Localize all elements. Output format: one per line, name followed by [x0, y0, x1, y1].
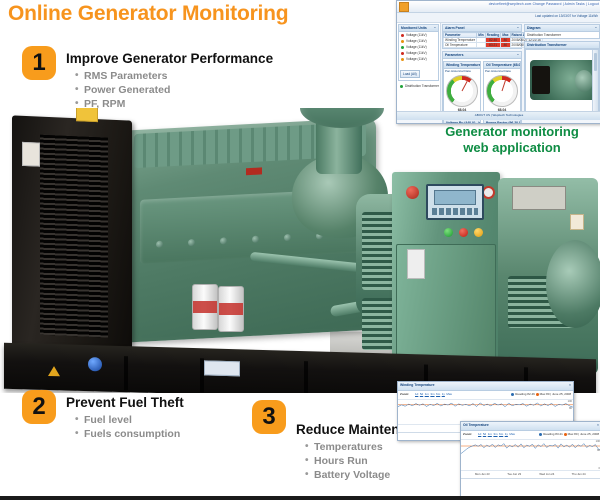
bullet-icon: • — [75, 69, 79, 83]
list-item: •Hours Run — [314, 454, 472, 468]
panel-title: Parameters — [445, 53, 463, 57]
ytick-mid: 80 — [569, 407, 572, 410]
zoom-option[interactable]: 3m — [493, 432, 497, 436]
close-icon[interactable]: × — [597, 423, 599, 427]
col-min: Min — [477, 33, 486, 38]
zoom-option[interactable]: 5d — [483, 432, 486, 436]
collapsed-header: Voltage Ry (440 V) - kV ▾ — [444, 120, 480, 124]
cell-min — [477, 43, 486, 48]
chart-title: Oil Temperature — [463, 423, 489, 427]
image-panel: Distribution Transformer — [524, 41, 600, 114]
controller-display — [426, 184, 484, 220]
chart-legend-2: Reading 83.21 Max 80 | June 25, 2008 — [539, 432, 599, 436]
app-logo-icon — [399, 2, 409, 12]
bullet-label: Hours Run — [314, 455, 368, 467]
bullet-label: Temperatures — [314, 441, 383, 453]
panel-title: Distribution Transformer — [527, 43, 567, 47]
generator-thumbnail-image — [530, 60, 596, 100]
emergency-stop-icon — [406, 186, 419, 199]
webapp-left-column: Monitored Units − Voltage (11kV) Voltage… — [397, 23, 441, 111]
alarm-panel-header: Alarm Panel − — [443, 25, 521, 32]
indicator-lamps — [444, 228, 486, 237]
ytick-top: 100 — [596, 440, 600, 443]
zoom-option[interactable]: 6m — [436, 392, 440, 396]
list-item: •Power Generated — [84, 83, 273, 97]
bullet-icon: • — [75, 427, 79, 441]
gauge-title: Winding Temperature (66.64 °C) — [446, 63, 480, 67]
radiator-label — [22, 142, 40, 167]
bullet-icon: • — [305, 440, 309, 454]
legend-value-max: 80 — [546, 392, 549, 396]
panel-title: Power Factor (96.20 %) — [486, 121, 520, 124]
diagram-panel-header: Diagram − — [525, 25, 599, 32]
status-dot-icon — [401, 46, 404, 49]
collapse-icon[interactable]: − — [517, 53, 519, 57]
gauge-header: Winding Temperature (66.64 °C) ▾ — [444, 62, 480, 69]
list-item[interactable]: Voltage (11kV) — [399, 56, 438, 62]
gauge-body: 68.04 — [444, 73, 480, 113]
panel-title: Alarm Panel — [445, 26, 465, 30]
chart-svg-2 — [461, 440, 600, 470]
collapse-icon[interactable]: − — [517, 26, 519, 30]
list-item[interactable]: Distribution Transformer — [525, 32, 599, 38]
engine-red-label — [246, 167, 262, 175]
chart-titlebar-1: Winding Temperature × — [398, 382, 573, 391]
status-dot-icon — [401, 40, 404, 43]
panel-title: Voltage Ry (440 V) - kV — [446, 121, 480, 124]
generator-end-bell — [546, 240, 600, 328]
zoom-option[interactable]: 1y — [442, 392, 445, 396]
feature-bullets-1: •RMS Parameters •Power Generated •PF, RP… — [66, 69, 273, 111]
legend-value-reading: 83.21 — [555, 432, 563, 436]
warning-label — [570, 214, 584, 230]
gauge-body: 68.04 — [484, 73, 520, 113]
panel-title: Monitored Units — [401, 26, 427, 30]
poster-root: Online Generator Monitoring — [0, 0, 600, 500]
monitored-units-header: Monitored Units − — [399, 25, 438, 32]
legend-label-max: Max — [568, 432, 574, 436]
radiator-housing — [12, 115, 132, 360]
fuel-filter-1 — [192, 284, 218, 330]
gauge-title: Oil Temperature (68.04 °C) — [486, 63, 520, 67]
status-dot-icon — [400, 85, 403, 88]
zoom-option[interactable]: 5d — [420, 392, 423, 396]
gauge-row: Winding Temperature (66.64 °C) ▾ Pan His… — [443, 61, 521, 118]
diagram-panel: Diagram − Distribution Transformer — [524, 24, 600, 39]
legend-color-max — [536, 393, 539, 396]
generator-nameplate — [512, 186, 566, 210]
zoom-option[interactable]: 1m — [488, 432, 492, 436]
xtick-label: Wed Jun 24 — [539, 472, 554, 476]
legend-value-reading: 82.46 — [527, 392, 535, 396]
cell-max: 80 — [501, 43, 510, 48]
legend-color-reading — [539, 433, 542, 436]
load-all-button[interactable]: Load (All) — [400, 70, 420, 78]
zoom-options-1[interactable]: 1d5d1m3m6m1yMax — [415, 392, 452, 396]
chart-titlebar-2: Oil Temperature × — [461, 422, 600, 431]
close-icon[interactable]: × — [569, 383, 571, 387]
gauge-oil-temperature[interactable]: Oil Temperature (68.04 °C) ▾ Pan Histori… — [483, 61, 521, 118]
list-item: •PF, RPM — [84, 97, 273, 111]
webapp-last-updated-bar: Last updated on 13/03/07 for Voltage 11k… — [397, 13, 600, 23]
zoom-option[interactable]: 6m — [499, 432, 503, 436]
cooling-fins-upper — [362, 212, 396, 290]
list-item: •Fuel level — [84, 413, 184, 427]
radiator-grille — [40, 135, 108, 338]
webapp-footer: ABOUT US | Wepitech Technologies — [397, 111, 600, 120]
bullet-label: Battery Voltage — [314, 469, 390, 481]
cooling-fins-lower — [362, 298, 396, 350]
list-item: •RMS Parameters — [84, 69, 273, 83]
skid-hazard-icon — [48, 366, 60, 376]
xtick-label: Mon Jun 23 — [475, 472, 490, 476]
legend-value-max: 80 — [574, 432, 577, 436]
zoom-label: Zoom: — [400, 392, 409, 396]
chart-xaxis-2: Mon Jun 23 Tue Jun 23 Wed Jun 24 Thu Jun… — [461, 470, 600, 478]
cell-parameter: Winding Temperature — [444, 38, 477, 43]
legend-color-reading — [511, 393, 514, 396]
page-title: Online Generator Monitoring — [8, 2, 288, 26]
bullet-label: PF, RPM — [84, 98, 125, 110]
list-item: •Battery Voltage — [314, 468, 472, 482]
cell-parameter: Oil Temperature — [444, 43, 477, 48]
chart-plot-2: 100 80 0 — [461, 440, 600, 470]
monitored-units-panel: Monitored Units − Voltage (11kV) Voltage… — [398, 24, 439, 81]
status-dot-icon — [401, 34, 404, 37]
zoom-option[interactable]: 1y — [505, 432, 508, 436]
collapsed-header: Power Factor (96.20 %) ▾ — [484, 120, 520, 124]
legend-label-reading: Reading — [543, 432, 554, 436]
bullet-icon: • — [75, 97, 79, 111]
zoom-option[interactable]: 1d — [478, 432, 481, 436]
skid-info-decal — [204, 360, 240, 376]
last-updated-text: Last updated on 13/03/07 for Voltage 11k… — [535, 14, 598, 18]
bullet-label: Fuel level — [84, 414, 132, 426]
cabinet-nameplate — [407, 249, 425, 279]
feature-badge-1: 1 — [22, 46, 56, 80]
xtick-label: Tue Jun 23 — [507, 472, 521, 476]
webapp-topbar: devicefleet@wepitech.com Change Password… — [397, 1, 600, 13]
image-panel-header: Distribution Transformer — [525, 42, 599, 49]
legend-date-range: June 25, 2008 — [580, 432, 599, 436]
xtick-label: Thu Jun 24 — [572, 472, 586, 476]
status-dot-icon — [401, 58, 404, 61]
generator-alternator — [498, 178, 598, 374]
bullet-icon: • — [75, 83, 79, 97]
unit-label: Voltage (11kV) — [406, 51, 427, 55]
bullet-icon: • — [305, 454, 309, 468]
chart-toolbar-1: Zoom: 1d5d1m3m6m1yMax Reading 82.46 Max … — [398, 391, 573, 400]
unit-label: Voltage (11kV) — [406, 57, 427, 61]
zoom-options-2[interactable]: 1d5d1m3m6m1yMax — [478, 432, 515, 436]
cell-reading: 83.21 — [485, 43, 501, 48]
webapp-right-column: Diagram − Distribution Transformer Distr… — [523, 23, 600, 111]
feature-title-2: Prevent Fuel Theft — [66, 395, 184, 410]
feature-title-1: Improve Generator Performance — [66, 51, 273, 66]
legend-date-range: June 25, 2008 — [552, 392, 571, 396]
zoom-option[interactable]: 1m — [425, 392, 429, 396]
legend-color-max — [564, 433, 567, 436]
zoom-option[interactable]: 3m — [430, 392, 434, 396]
diagram-label: Distribution Transformer — [527, 33, 561, 37]
gauge-needle — [462, 81, 468, 91]
generator-monitoring-web-app[interactable]: devicefleet@wepitech.com Change Password… — [396, 0, 600, 124]
zoom-label: Zoom: — [463, 432, 472, 436]
collapse-icon[interactable]: − — [434, 26, 436, 30]
feature-badge-3: 3 — [252, 400, 286, 434]
bullet-label: Fuels consumption — [84, 428, 180, 440]
unit-label: Voltage (11kV) — [406, 39, 427, 43]
caption-line-2: web application — [428, 140, 596, 156]
generator-thumbnail-box — [525, 49, 599, 113]
feature-bullets-2: •Fuel level •Fuels consumption — [66, 413, 184, 441]
bullet-label: Power Generated — [84, 84, 170, 96]
webapp-caption: Generator monitoring web application — [428, 124, 596, 156]
bullet-icon: • — [75, 413, 79, 427]
chart-window-oil-temperature[interactable]: Oil Temperature × Zoom: 1d5d1m3m6m1yMax … — [460, 421, 600, 500]
caption-line-1: Generator monitoring — [428, 124, 596, 140]
gauge-winding-temperature[interactable]: Winding Temperature (66.64 °C) ▾ Pan His… — [443, 61, 481, 118]
col-reading: Reading — [485, 33, 501, 38]
status-dot-icon — [401, 52, 404, 55]
bullet-label: RMS Parameters — [84, 70, 167, 82]
chart-title: Winding Temperature — [400, 383, 435, 387]
footer-text: ABOUT US | Wepitech Technologies — [475, 113, 523, 117]
zoom-option[interactable]: 1d — [415, 392, 418, 396]
chart-legend-1: Reading 82.46 Max 80 | June 25, 2008 — [511, 392, 571, 396]
gauge-dial — [446, 75, 478, 107]
panel-scrollbar[interactable] — [592, 50, 598, 112]
unit-label: Voltage (11kV) — [406, 45, 427, 49]
diagram-item-label: Distribution Transformer — [405, 84, 439, 88]
zoom-option-max[interactable]: Max — [509, 432, 515, 436]
webapp-center-column: Alarm Panel − Parameter Min Reading Max … — [441, 23, 523, 111]
ytick-top: 100 — [568, 400, 572, 403]
chart-detail-area-2 — [461, 478, 600, 500]
legend-label-max: Max — [540, 392, 546, 396]
bullet-icon: • — [305, 468, 309, 482]
list-item: •Fuels consumption — [84, 427, 184, 441]
zoom-option-max[interactable]: Max — [446, 392, 452, 396]
chart-toolbar-2: Zoom: 1d5d1m3m6m1yMax Reading 83.21 Max … — [461, 431, 600, 440]
gauge-dial — [486, 75, 518, 107]
parameters-panel-header: Parameters − — [443, 52, 521, 59]
list-item: •Temperatures — [314, 440, 472, 454]
collapse-icon[interactable]: − — [595, 26, 597, 30]
alarm-panel: Alarm Panel − Parameter Min Reading Max … — [442, 24, 522, 49]
webapp-top-links[interactable]: devicefleet@wepitech.com Change Password… — [489, 2, 599, 6]
webapp-body: Monitored Units − Voltage (11kV) Voltage… — [397, 23, 600, 111]
legend-label-reading: Reading — [515, 392, 526, 396]
gauge-needle — [502, 80, 506, 91]
skid-blue-decal — [88, 357, 102, 371]
cabinet-door — [396, 244, 496, 366]
control-panel-cabinet — [392, 172, 500, 370]
col-max: Max — [501, 33, 510, 38]
panel-title: Diagram — [527, 26, 541, 30]
unit-label: Voltage (11kV) — [406, 33, 427, 37]
feature-bullets-3: •Temperatures •Hours Run •Battery Voltag… — [296, 440, 472, 482]
diagram-sidebar-item[interactable]: Distribution Transformer — [398, 83, 439, 89]
gauge-header: Oil Temperature (68.04 °C) ▾ — [484, 62, 520, 69]
feature-badge-2: 2 — [22, 390, 56, 424]
fuel-filter-2 — [218, 286, 244, 332]
